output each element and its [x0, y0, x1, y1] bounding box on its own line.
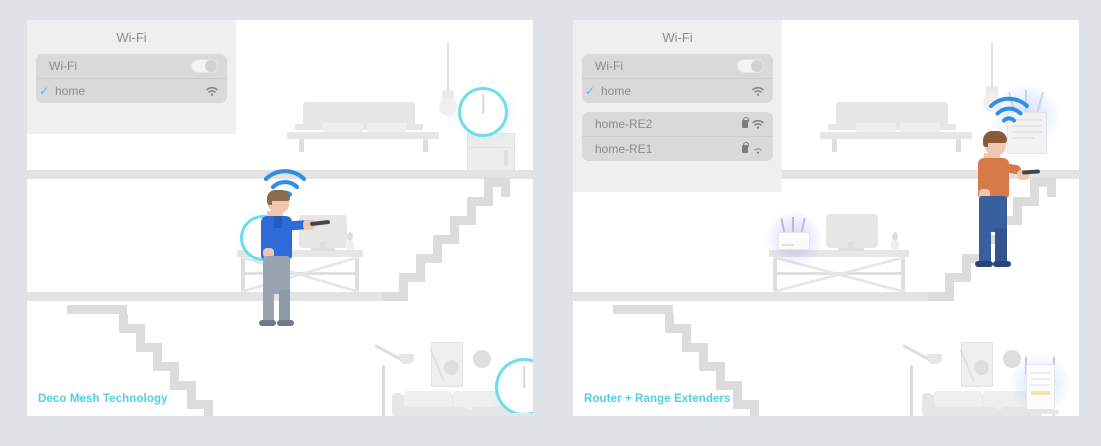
check-icon: ✓	[585, 85, 597, 97]
wifi-icon	[752, 120, 764, 129]
panel-caption: Deco Mesh Technology	[38, 393, 168, 405]
wifi-group-extenders: home-RE2 home-RE1	[582, 112, 773, 161]
deco-bedroom	[461, 90, 505, 134]
wifi-toggle-label: Wi-Fi	[49, 59, 191, 73]
wifi-panel-right: Wi-Fi Wi-Fi ✓ home	[573, 20, 782, 192]
wifi-toggle-switch[interactable]	[191, 59, 218, 73]
wifi-group: Wi-Fi ✓ home	[36, 54, 227, 103]
floor-middle	[27, 292, 388, 301]
wifi-network-home[interactable]: ✓ home	[36, 78, 227, 103]
wifi-toggle-row[interactable]: Wi-Fi	[582, 54, 773, 78]
wifi-network-label: home	[601, 84, 752, 98]
wifi-network-label: home-RE2	[595, 117, 742, 131]
wifi-icon	[206, 87, 218, 96]
wifi-toggle-switch[interactable]	[737, 59, 764, 73]
wifi-network-label: home-RE1	[595, 142, 742, 156]
panel-deco-mesh: Wi-Fi Wi-Fi ✓ home	[27, 20, 533, 416]
wifi-panel-title: Wi-Fi	[27, 20, 236, 54]
wifi-group-connected: Wi-Fi ✓ home	[582, 54, 773, 103]
wifi-network-home-re1[interactable]: home-RE1	[582, 136, 773, 161]
wifi-panel-title: Wi-Fi	[573, 20, 782, 54]
comparison-diagram: Wi-Fi Wi-Fi ✓ home	[0, 0, 1101, 446]
lock-icon	[742, 145, 748, 153]
check-icon: ✓	[39, 85, 51, 97]
floor-middle	[573, 292, 934, 301]
wifi-panel-left: Wi-Fi Wi-Fi ✓ home	[27, 20, 236, 134]
wifi-network-home[interactable]: ✓ home	[582, 78, 773, 103]
wifi-icon-upstairs	[987, 96, 1031, 126]
wifi-network-label: home	[55, 84, 206, 98]
wifi-toggle-label: Wi-Fi	[595, 59, 737, 73]
panel-caption: Router + Range Extenders	[584, 393, 731, 405]
wifi-toggle-row[interactable]: Wi-Fi	[36, 54, 227, 78]
lock-icon	[742, 120, 748, 128]
wifi-icon-weak	[752, 145, 764, 154]
panel-router-extenders: Wi-Fi Wi-Fi ✓ home	[573, 20, 1079, 416]
wifi-icon	[752, 87, 764, 96]
wifi-network-home-re2[interactable]: home-RE2	[582, 112, 773, 136]
wall-clock	[473, 350, 491, 368]
